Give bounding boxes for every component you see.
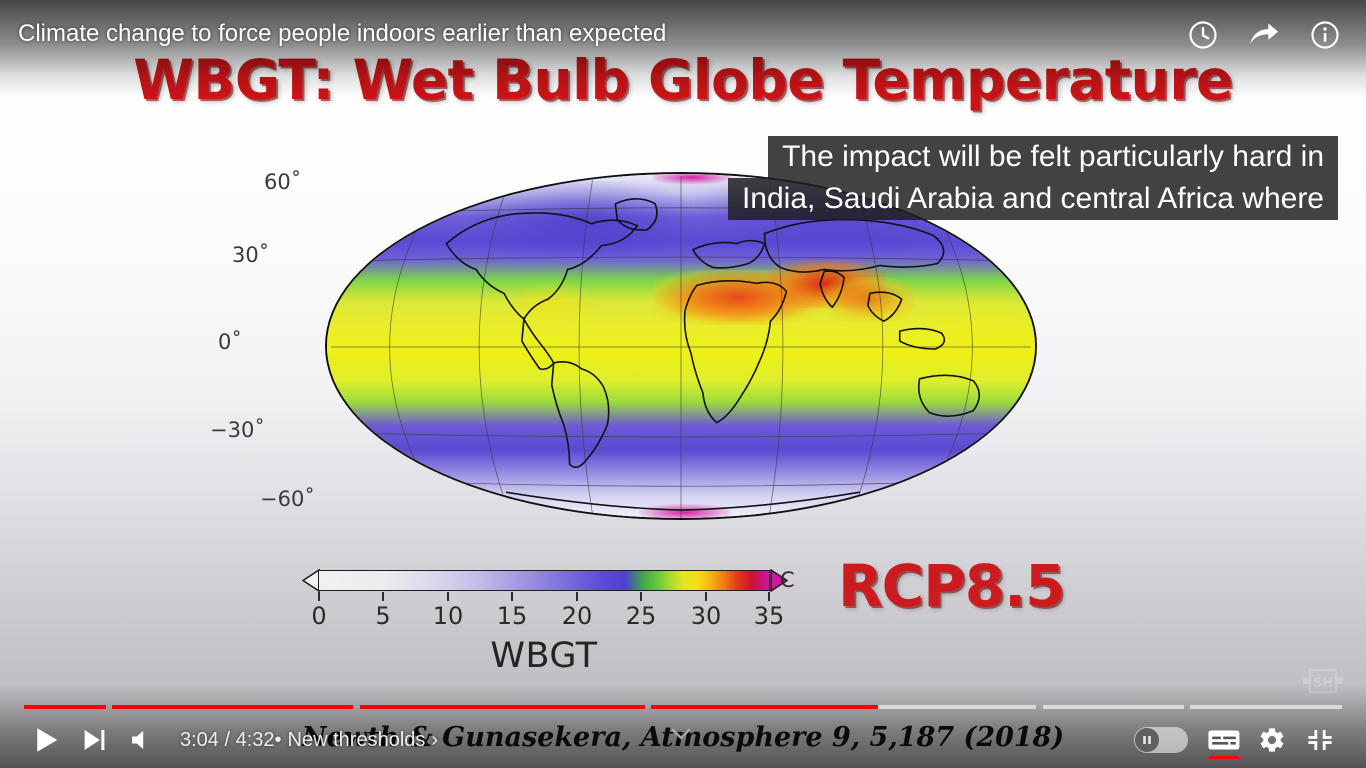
scenario-label: RCP8.5	[838, 552, 1064, 620]
graticule-and-coastlines	[327, 174, 1035, 520]
lat-label-minus30: −30˚	[210, 418, 265, 442]
colorbar-gradient	[318, 570, 770, 591]
info-icon[interactable]	[1306, 16, 1344, 54]
progress-chapter-6[interactable]	[1190, 705, 1342, 709]
chapter-separator: •	[275, 729, 282, 752]
caption-line-1: The impact will be felt particularly har…	[768, 136, 1338, 178]
globe-outline	[325, 172, 1037, 520]
globe-projection	[325, 172, 1037, 520]
colorbar-tick-10: 10	[433, 602, 464, 630]
volume-button[interactable]	[118, 716, 166, 764]
progress-played-3	[360, 705, 645, 709]
subtitles-button[interactable]	[1200, 716, 1248, 764]
colorbar-tick-20: 20	[562, 602, 593, 630]
top-actions-bar	[1184, 16, 1344, 54]
colorbar-tick-30: 30	[691, 602, 722, 630]
video-title[interactable]: Climate change to force people indoors e…	[18, 20, 666, 48]
play-button[interactable]	[22, 716, 70, 764]
colorbar-title: WBGT	[318, 636, 770, 676]
colorbar-unit-label: C	[780, 568, 795, 592]
progress-played-4	[651, 705, 878, 709]
progress-chapter-1[interactable]	[24, 705, 106, 709]
svg-text:SH: SH	[1313, 676, 1333, 691]
autoplay-toggle[interactable]	[1134, 727, 1188, 753]
colorbar-tick-0: 0	[311, 602, 326, 630]
colorbar-tick-marks	[318, 592, 770, 602]
lat-label-0: 0˚	[218, 330, 242, 354]
caption-container: The impact will be felt particularly har…	[728, 136, 1338, 220]
sh-watermark-logo: SH	[1302, 666, 1344, 696]
video-player[interactable]: WBGT: Wet Bulb Globe Temperature RCP8.5 …	[0, 0, 1366, 768]
chapter-title-text: New thresholds	[288, 729, 426, 752]
lat-label-30: 30˚	[232, 243, 269, 267]
subtitles-active-indicator	[1209, 756, 1239, 759]
progress-chapter-3[interactable]	[360, 705, 645, 709]
next-video-button[interactable]	[70, 716, 118, 764]
time-display: 3:04 / 4:32	[180, 729, 275, 752]
progress-chapter-4[interactable]	[651, 705, 1036, 709]
autoplay-knob	[1135, 728, 1159, 752]
progress-played-2	[112, 705, 353, 709]
slide-headline: WBGT: Wet Bulb Globe Temperature	[0, 48, 1366, 112]
colorbar-tick-25: 25	[626, 602, 657, 630]
colorbar-tick-5: 5	[375, 602, 390, 630]
progress-chapter-5[interactable]	[1043, 705, 1184, 709]
progress-bar[interactable]	[24, 702, 1342, 711]
lat-label-minus60: −60˚	[260, 487, 315, 511]
colorbar: C 0 5 10 15 20 25 30 35	[300, 566, 800, 681]
video-frame: WBGT: Wet Bulb Globe Temperature RCP8.5 …	[0, 0, 1366, 768]
colorbar-tick-35: 35	[754, 602, 785, 630]
chevron-right-icon: ›	[431, 729, 438, 752]
progress-played-1	[24, 705, 106, 709]
watch-later-icon[interactable]	[1184, 16, 1222, 54]
exit-fullscreen-button[interactable]	[1296, 716, 1344, 764]
colorbar-tick-labels: 0 5 10 15 20 25 30 35	[318, 602, 770, 630]
pause-icon	[1141, 734, 1153, 746]
colorbar-tick-15: 15	[497, 602, 528, 630]
lat-label-60: 60˚	[264, 170, 301, 194]
share-icon[interactable]	[1245, 16, 1283, 54]
caption-line-2: India, Saudi Arabia and central Africa w…	[728, 178, 1338, 220]
chapter-title-link[interactable]: • New thresholds ›	[275, 729, 439, 752]
settings-button[interactable]	[1248, 716, 1296, 764]
player-controls: 3:04 / 4:32 • New thresholds ›	[0, 712, 1366, 768]
progress-chapter-2[interactable]	[112, 705, 353, 709]
